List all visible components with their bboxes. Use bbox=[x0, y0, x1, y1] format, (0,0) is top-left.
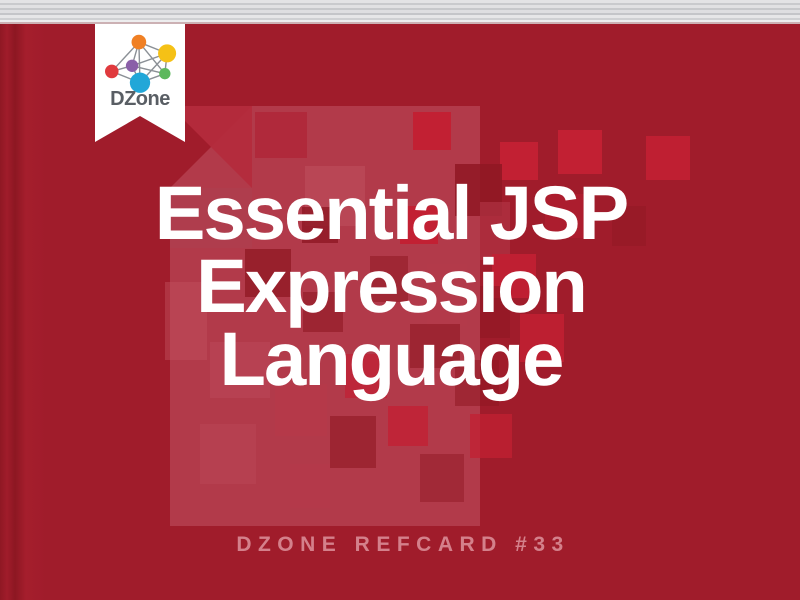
mosaic-tile bbox=[470, 414, 512, 458]
node-red-icon bbox=[105, 65, 119, 79]
mosaic-tile bbox=[646, 136, 690, 180]
refcard-footer-label: DZONE REFCARD #33 bbox=[0, 533, 800, 557]
mosaic-tile bbox=[558, 130, 602, 174]
dzone-wordmark: DZone bbox=[95, 88, 185, 111]
refcard-cover: DZone Essential JSP Expression Language … bbox=[0, 0, 800, 600]
mosaic-tile bbox=[420, 454, 464, 502]
dzone-logo-ribbon: DZone bbox=[95, 24, 185, 142]
cover-title: Essential JSP Expression Language bbox=[0, 178, 800, 397]
mosaic-tile bbox=[388, 406, 428, 446]
network-graph-icon bbox=[95, 24, 185, 94]
title-line-1: Essential JSP bbox=[0, 178, 782, 251]
title-line-2: Expression bbox=[0, 251, 782, 324]
title-line-3: Language bbox=[0, 324, 782, 397]
node-yellow-icon bbox=[158, 44, 176, 62]
node-orange-icon bbox=[132, 35, 147, 50]
paper-edge-stripes bbox=[0, 0, 800, 24]
node-purple-icon bbox=[126, 60, 138, 72]
node-green-icon bbox=[159, 68, 170, 79]
mosaic-tile bbox=[290, 464, 330, 508]
mosaic-tile bbox=[200, 424, 256, 484]
mosaic-tile bbox=[413, 112, 451, 150]
mosaic-tile bbox=[255, 112, 307, 158]
mosaic-tile bbox=[330, 416, 376, 468]
